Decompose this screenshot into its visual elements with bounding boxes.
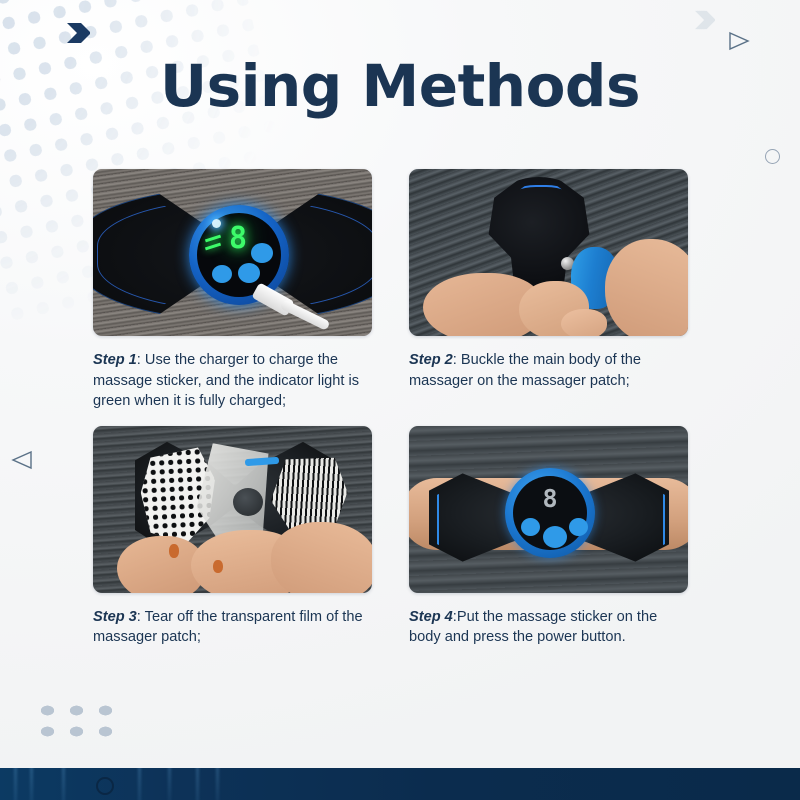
finger-right (561, 309, 607, 336)
step-3-label: Step 3 (93, 609, 137, 625)
center-snap (233, 488, 263, 516)
hand-right-outer (271, 522, 372, 593)
module-button (251, 243, 273, 263)
step-4-image: 8 (409, 426, 688, 593)
triangle-right-outline-icon (727, 30, 751, 57)
module-button (238, 263, 260, 283)
dot-grid-decoration (33, 700, 125, 744)
module-button (521, 518, 540, 536)
step-3-separator: : (137, 609, 145, 625)
module-button (569, 518, 588, 536)
step-2-label: Step 2 (409, 352, 453, 368)
fingernail (169, 544, 179, 558)
module-button (212, 265, 232, 283)
step-1-caption: Step 1: Use the charger to charge the ma… (93, 350, 372, 412)
step-2-separator: : (453, 352, 461, 368)
step-3-image (93, 426, 372, 593)
step-2-image (409, 169, 688, 336)
seven-segment-display: 8 (221, 222, 255, 256)
step-4-caption: Step 4:Put the massage sticker on the bo… (409, 607, 688, 648)
indicator-led (212, 219, 221, 228)
promo-page: Using Methods 8 (0, 0, 800, 800)
fingernail (213, 560, 223, 573)
step-2-caption: Step 2: Buckle the main body of the mass… (409, 350, 688, 391)
step-card-4: 8 Step 4:Put the massage sticker on the … (409, 426, 688, 648)
module-button (543, 526, 567, 548)
steps-grid: 8 Step 1: Use the charger to charge the … (93, 169, 689, 648)
step-3-caption: Step 3: Tear off the transparent film of… (93, 607, 372, 648)
step-4-label: Step 4 (409, 609, 453, 625)
page-title: Using Methods (0, 57, 800, 115)
step-1-image: 8 (93, 169, 372, 336)
steps-row-2: Step 3: Tear off the transparent film of… (93, 426, 689, 648)
circle-outline-icon (765, 149, 780, 164)
seven-segment-display: 8 (535, 484, 565, 514)
footer-band (0, 768, 800, 800)
step-card-3: Step 3: Tear off the transparent film of… (93, 426, 372, 648)
hand-right (605, 239, 688, 336)
step-card-2: Step 2: Buckle the main body of the mass… (409, 169, 688, 412)
triangle-left-outline-icon (10, 449, 34, 476)
steps-row-1: 8 Step 1: Use the charger to charge the … (93, 169, 689, 412)
circle-outline-icon (96, 777, 114, 795)
step-1-label: Step 1 (93, 352, 137, 368)
step-card-1: 8 Step 1: Use the charger to charge the … (93, 169, 372, 412)
step-1-separator: : (137, 352, 145, 368)
